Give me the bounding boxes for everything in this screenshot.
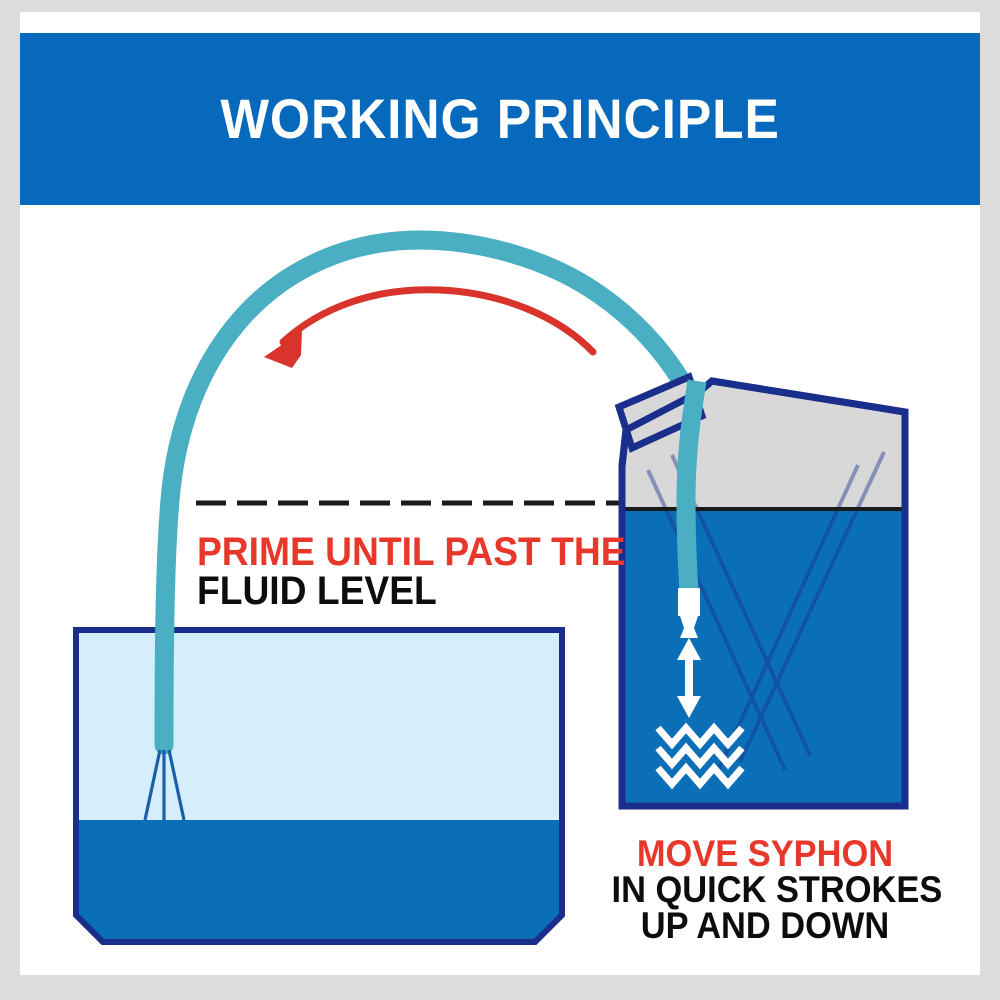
receiving-tank-fluid	[70, 820, 570, 950]
move-label-line-2: IN QUICK STROKES	[612, 872, 919, 908]
flow-direction-arrow	[264, 290, 593, 368]
move-instruction-label: MOVE SYPHON IN QUICK STROKES UP AND DOWN	[600, 836, 930, 944]
infographic-root: WORKING PRINCIPLE	[0, 0, 1000, 1000]
move-label-line-3: UP AND DOWN	[612, 908, 919, 944]
move-label-line-1: MOVE SYPHON	[612, 836, 919, 872]
prime-label-line-2: FLUID LEVEL	[197, 572, 626, 611]
prime-label-line-1: PRIME UNTIL PAST THE	[197, 533, 626, 572]
receiving-tank	[70, 630, 570, 950]
prime-instruction-label: PRIME UNTIL PAST THE FLUID LEVEL	[197, 533, 658, 611]
hose-inside-container	[686, 381, 697, 592]
